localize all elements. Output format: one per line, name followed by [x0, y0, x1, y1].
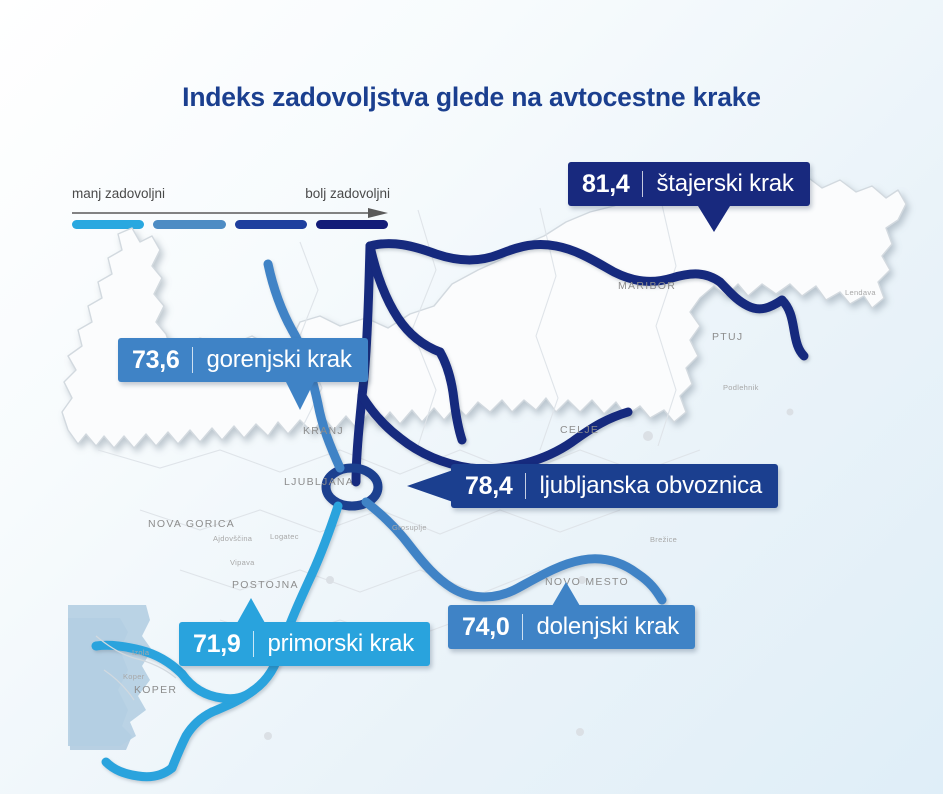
city-label: Logatec: [270, 532, 299, 541]
callout-primorski-krak[interactable]: 71,9 primorski krak: [179, 622, 430, 666]
city-label: Ajdovščina: [213, 534, 252, 543]
city-label: NOVA GORICA: [148, 518, 235, 530]
callout-value: 81,4: [582, 170, 629, 199]
city-label: Brežice: [650, 535, 677, 544]
city-label: KOPER: [134, 684, 177, 696]
callout-gorenjski-krak[interactable]: 73,6 gorenjski krak: [118, 338, 368, 382]
callout-pointer: [407, 470, 453, 502]
city-label: KRANJ: [303, 425, 344, 437]
city-label: Podlehnik: [723, 383, 759, 392]
city-label: Koper: [123, 672, 145, 681]
callout-dolenjski-krak[interactable]: 74,0 dolenjski krak: [448, 605, 695, 649]
callout-separator: [642, 171, 643, 197]
callout-stajerski-krak[interactable]: 81,4 štajerski krak: [568, 162, 810, 206]
city-label: Grosuplje: [392, 523, 427, 532]
callout-name: ljubljanska obvoznica: [539, 472, 762, 500]
callout-pointer: [237, 598, 265, 623]
callout-name: primorski krak: [267, 630, 414, 658]
callout-pointer: [698, 206, 730, 232]
city-label: CELJE: [560, 424, 599, 436]
city-label: Izola: [132, 648, 149, 657]
callout-name: dolenjski krak: [536, 613, 679, 641]
page-title: Indeks zadovoljstva glede na avtocestne …: [0, 82, 943, 113]
callout-ljubljanska-obvoznica[interactable]: 78,4 ljubljanska obvoznica: [451, 464, 778, 508]
city-label: PTUJ: [712, 331, 743, 343]
callout-separator: [253, 631, 254, 657]
callout-value: 78,4: [465, 472, 512, 501]
callout-name: gorenjski krak: [206, 346, 351, 374]
callout-pointer: [286, 382, 314, 410]
city-label: MARIBOR: [618, 280, 676, 292]
city-label: LJUBLJANA: [284, 476, 354, 488]
callout-separator: [192, 347, 193, 373]
callout-value: 71,9: [193, 630, 240, 659]
city-label: Lendava: [845, 288, 876, 297]
city-label: Vipava: [230, 558, 255, 567]
callout-separator: [522, 614, 523, 640]
callout-value: 73,6: [132, 346, 179, 375]
callout-pointer: [552, 582, 580, 606]
callout-name: štajerski krak: [656, 170, 793, 198]
callout-value: 74,0: [462, 613, 509, 642]
infographic-root: Indeks zadovoljstva glede na avtocestne …: [0, 0, 943, 794]
city-label: POSTOJNA: [232, 579, 299, 591]
callout-separator: [525, 473, 526, 499]
